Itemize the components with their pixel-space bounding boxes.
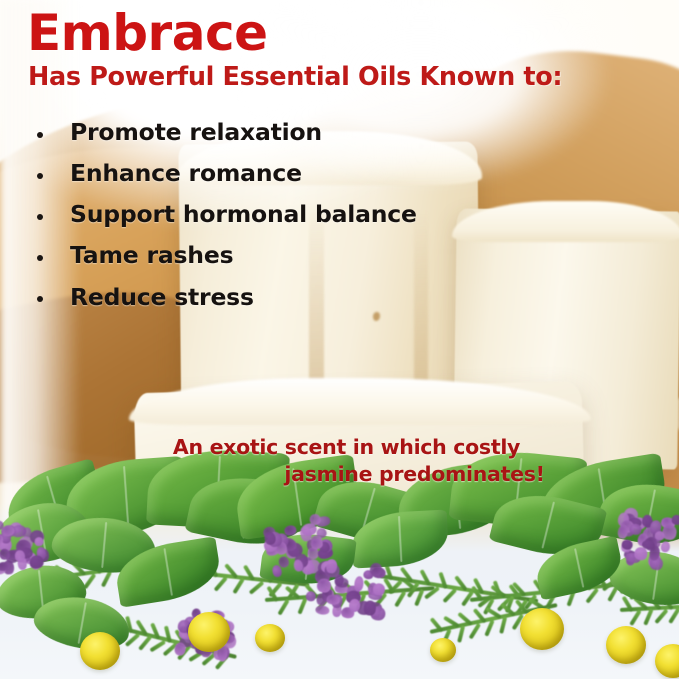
- lavender-floret: [315, 605, 330, 616]
- rosemary-needle: [654, 609, 668, 624]
- chamomile-bud: [80, 632, 120, 670]
- rosemary-needle: [414, 589, 424, 606]
- chamomile-bud: [188, 612, 230, 652]
- benefit-item: Tame rashes: [30, 241, 417, 270]
- chamomile-bud: [655, 644, 679, 678]
- bullet-dot-icon: [37, 173, 43, 179]
- lavender-floret: [316, 593, 327, 606]
- lavender-floret: [306, 591, 316, 602]
- benefit-item: Promote relaxation: [30, 118, 417, 147]
- page-subtitle: Has Powerful Essential Oils Known to:: [28, 62, 562, 92]
- rosemary-needle: [214, 576, 228, 591]
- rosemary-needle: [457, 612, 472, 626]
- benefit-label: Promote relaxation: [70, 118, 322, 146]
- rosemary-needle: [457, 626, 465, 643]
- benefit-label: Enhance romance: [70, 159, 302, 187]
- rosemary-needle: [442, 588, 457, 603]
- rosemary-needle: [394, 591, 406, 608]
- lavender-floret: [326, 594, 340, 605]
- lavender-floret: [354, 576, 365, 592]
- rosemary-needle: [469, 623, 481, 640]
- bullet-dot-icon: [37, 296, 43, 302]
- bullet-dot-icon: [37, 132, 43, 138]
- lavender-floret: [174, 642, 187, 656]
- product-feature-poster: Embrace Has Powerful Essential Oils Know…: [0, 0, 679, 679]
- rosemary-needle: [100, 571, 111, 588]
- benefits-list: Promote relaxationEnhance romanceSupport…: [30, 118, 417, 324]
- chamomile-bud: [255, 624, 285, 652]
- rosemary-needle: [400, 567, 413, 583]
- rosemary-needle: [499, 616, 507, 633]
- page-title: Embrace: [27, 8, 268, 58]
- lavender-floret: [617, 524, 629, 540]
- rosemary-needle: [233, 578, 245, 595]
- lavender-floret: [0, 549, 10, 560]
- lavender-flower: [607, 503, 679, 576]
- lavender-floret: [29, 555, 45, 570]
- rosemary-needle: [430, 617, 444, 633]
- lavender-floret: [659, 540, 671, 553]
- rosemary-needle: [454, 575, 467, 591]
- rosemary-needle: [243, 565, 255, 582]
- chamomile-bud: [606, 626, 646, 664]
- lavender-flower: [303, 548, 392, 626]
- benefit-label: Tame rashes: [70, 241, 233, 269]
- lavender-floret: [335, 577, 348, 587]
- lavender-flower: [0, 515, 55, 579]
- tagline-line-2: jasmine predominates!: [0, 461, 679, 488]
- tagline-line-1: An exotic scent in which costly: [0, 434, 679, 461]
- benefit-item: Reduce stress: [30, 283, 417, 312]
- rosemary-needle: [438, 572, 447, 589]
- rosemary-needle: [164, 626, 172, 643]
- rosemary-needle: [643, 609, 653, 626]
- rosemary-needle: [277, 599, 289, 616]
- rosemary-needle: [484, 620, 494, 637]
- chamomile-bud: [430, 638, 456, 662]
- bullet-dot-icon: [37, 255, 43, 261]
- benefit-item: Support hormonal balance: [30, 200, 417, 229]
- bullet-dot-icon: [37, 214, 43, 220]
- benefit-label: Reduce stress: [70, 283, 254, 311]
- rosemary-needle: [443, 616, 460, 628]
- rosemary-needle: [419, 569, 431, 586]
- rosemary-needle: [249, 581, 265, 595]
- chamomile-bud: [520, 608, 564, 650]
- benefit-label: Support hormonal balance: [70, 200, 417, 228]
- tagline: An exotic scent in which costly jasmine …: [0, 434, 679, 489]
- lavender-floret: [278, 556, 290, 568]
- benefit-item: Enhance romance: [30, 159, 417, 188]
- rosemary-needle: [586, 588, 600, 604]
